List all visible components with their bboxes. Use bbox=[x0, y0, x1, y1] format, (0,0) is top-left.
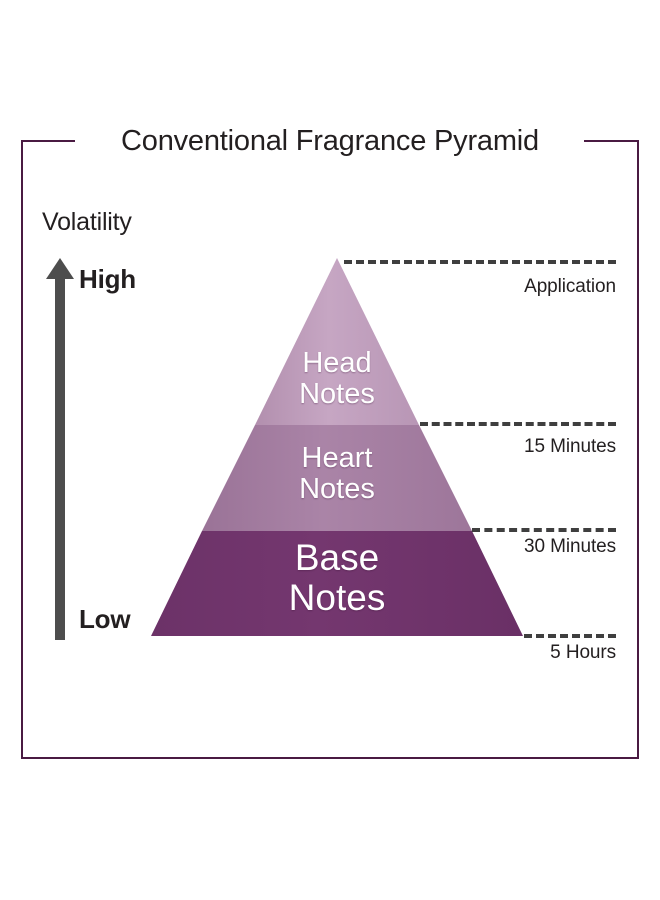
frame-left-edge bbox=[21, 140, 23, 759]
frame-top-right-segment bbox=[584, 140, 639, 142]
leader-line-5-hours bbox=[524, 634, 616, 638]
timing-label-application: Application bbox=[316, 276, 616, 298]
diagram-title: Conventional Fragrance Pyramid bbox=[80, 125, 580, 158]
volatility-axis-label: Volatility bbox=[42, 208, 132, 237]
timing-label-5-hours: 5 Hours bbox=[316, 642, 616, 664]
frame-bottom-edge bbox=[21, 757, 639, 759]
leader-line-15-minutes bbox=[420, 422, 616, 426]
axis-low-label: Low bbox=[79, 604, 130, 635]
axis-high-label: High bbox=[79, 264, 136, 295]
frame-top-left-segment bbox=[21, 140, 75, 142]
pyramid-label-head: Head Notes bbox=[237, 348, 437, 411]
leader-line-30-minutes bbox=[472, 528, 616, 532]
diagram-canvas: Conventional Fragrance Pyramid Volatilit… bbox=[0, 0, 660, 900]
timing-label-30-minutes: 30 Minutes bbox=[316, 536, 616, 558]
timing-label-15-minutes: 15 Minutes bbox=[316, 436, 616, 458]
leader-line-application bbox=[344, 260, 616, 264]
frame-right-edge bbox=[637, 140, 639, 759]
volatility-up-arrow-icon bbox=[44, 258, 76, 640]
